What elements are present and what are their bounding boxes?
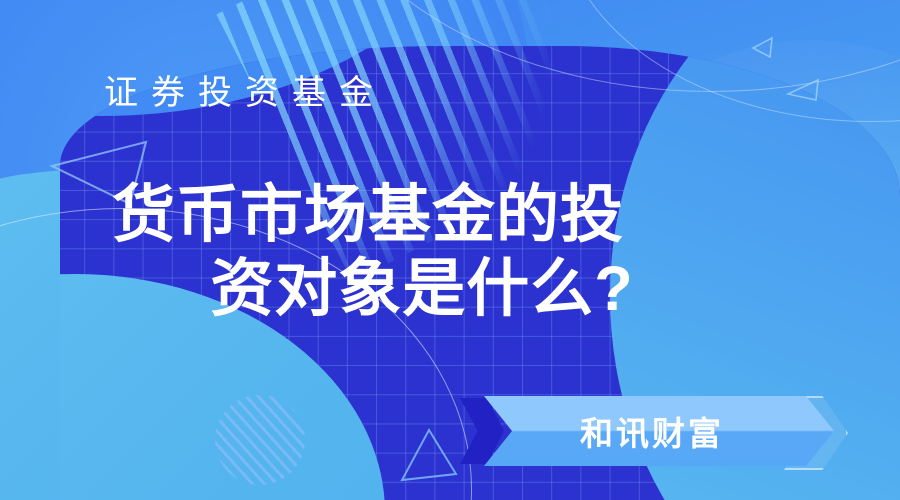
headline-line-2: 资对象是什么? [112,252,732,326]
poster-headline: 货币市场基金的投 资对象是什么? [112,178,732,327]
striped-circle-icon [215,395,305,485]
poster-subtitle: 证券投资基金 [104,76,386,110]
promo-poster: 证券投资基金 货币市场基金的投 资对象是什么? 和讯财富 [0,0,900,500]
headline-line-1: 货币市场基金的投 [112,178,732,252]
brand-name: 和讯财富 [484,396,834,466]
brand-banner: 和讯财富 [484,396,834,466]
